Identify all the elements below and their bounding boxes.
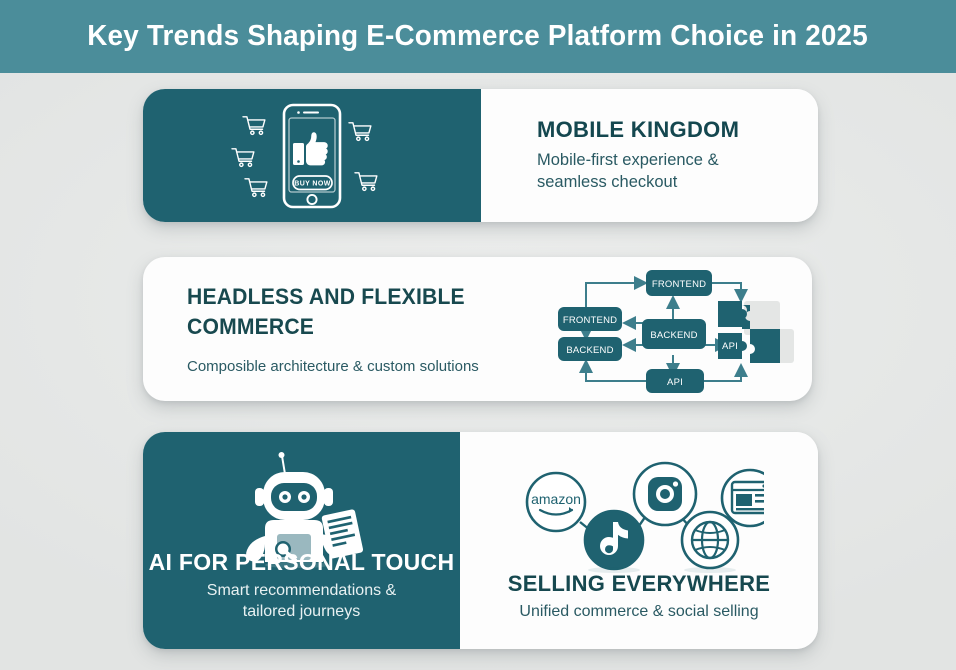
diagram-node-frontend-top: FRONTEND (646, 270, 712, 296)
amazon-icon: amazon (527, 473, 585, 531)
card-headless-heading-line2: COMMERCE (187, 313, 529, 341)
card-mobile-kingdom[interactable]: BUY NOW MOBILE KINGDOM Mobile-first expe… (143, 89, 818, 222)
diagram-label-backend-left: BACKEND (566, 345, 613, 356)
globe-icon (682, 512, 738, 568)
page-title: Key Trends Shaping E-Commerce Platform C… (88, 20, 869, 53)
diagram-label-api-puzzle: API (722, 341, 738, 352)
card-selling-panel: amazon (460, 432, 818, 649)
card-ai-text-block: AI FOR PERSONAL TOUCH Smart recommendati… (143, 549, 460, 623)
card-selling-text-block: SELLING EVERYWHERE Unified commerce & so… (460, 571, 818, 623)
header-banner: Key Trends Shaping E-Commerce Platform C… (0, 0, 956, 73)
card-ai-subtitle-line1: Smart recommendations & (143, 581, 460, 602)
browser-window-icon (722, 470, 764, 526)
card-headless-subtitle: Composible architecture & custom solutio… (187, 358, 543, 375)
diagram-label-api-bottom: API (667, 377, 683, 388)
card-mobile-subtitle-line1: Mobile-first experience & (537, 150, 818, 172)
card-selling-subtitle: Unified commerce & social selling (460, 602, 818, 623)
amazon-label: amazon (531, 491, 581, 507)
buy-now-label: BUY NOW (294, 180, 331, 187)
diagram-label-backend-center: BACKEND (650, 330, 697, 341)
diagram-node-backend-left: BACKEND (558, 337, 622, 361)
card-headless-heading-line1: HEADLESS AND FLEXIBLE (187, 283, 529, 311)
mobile-phone-thumbs-up-carts-icon: BUY NOW (227, 100, 397, 212)
diagram-label-frontend-left: FRONTEND (562, 315, 616, 326)
diagram-label-frontend-top: FRONTEND (651, 279, 705, 290)
card-headless-heading: HEADLESS AND FLEXIBLE COMMERCE (187, 283, 543, 358)
card-mobile-heading: MOBILE KINGDOM (537, 117, 818, 143)
card-headless-commerce[interactable]: HEADLESS AND FLEXIBLE COMMERCE Composibl… (143, 257, 812, 401)
card-selling-heading: SELLING EVERYWHERE (460, 571, 818, 597)
sales-channels-network-icon: amazon (514, 454, 764, 574)
tiktok-icon (585, 511, 643, 569)
card-ai-panel: AI FOR PERSONAL TOUCH Smart recommendati… (143, 432, 460, 649)
card-mobile-subtitle-line2: seamless checkout (537, 172, 818, 194)
instagram-icon (634, 463, 696, 525)
thumbs-up-glyph (293, 132, 328, 165)
card-headless-diagram-panel: FRONTEND FRONTEND BACKEND BACKEND API (543, 257, 812, 401)
buy-now-button[interactable]: BUY NOW (293, 176, 332, 190)
card-ai-subtitle-line2: tailored journeys (143, 602, 460, 623)
diagram-node-backend-center: BACKEND (642, 319, 706, 349)
diagram-node-api-puzzle: API (718, 299, 794, 363)
card-mobile-text-panel: MOBILE KINGDOM Mobile-first experience &… (481, 89, 818, 222)
card-ai-heading: AI FOR PERSONAL TOUCH (143, 549, 460, 576)
card-mobile-icon-panel: BUY NOW (143, 89, 481, 222)
card-ai-and-selling[interactable]: AI FOR PERSONAL TOUCH Smart recommendati… (143, 432, 818, 649)
headless-architecture-diagram-icon: FRONTEND FRONTEND BACKEND BACKEND API (558, 265, 798, 393)
diagram-node-frontend-left: FRONTEND (558, 307, 622, 331)
card-headless-text-panel: HEADLESS AND FLEXIBLE COMMERCE Composibl… (143, 257, 543, 401)
diagram-node-api-bottom: API (646, 369, 704, 393)
